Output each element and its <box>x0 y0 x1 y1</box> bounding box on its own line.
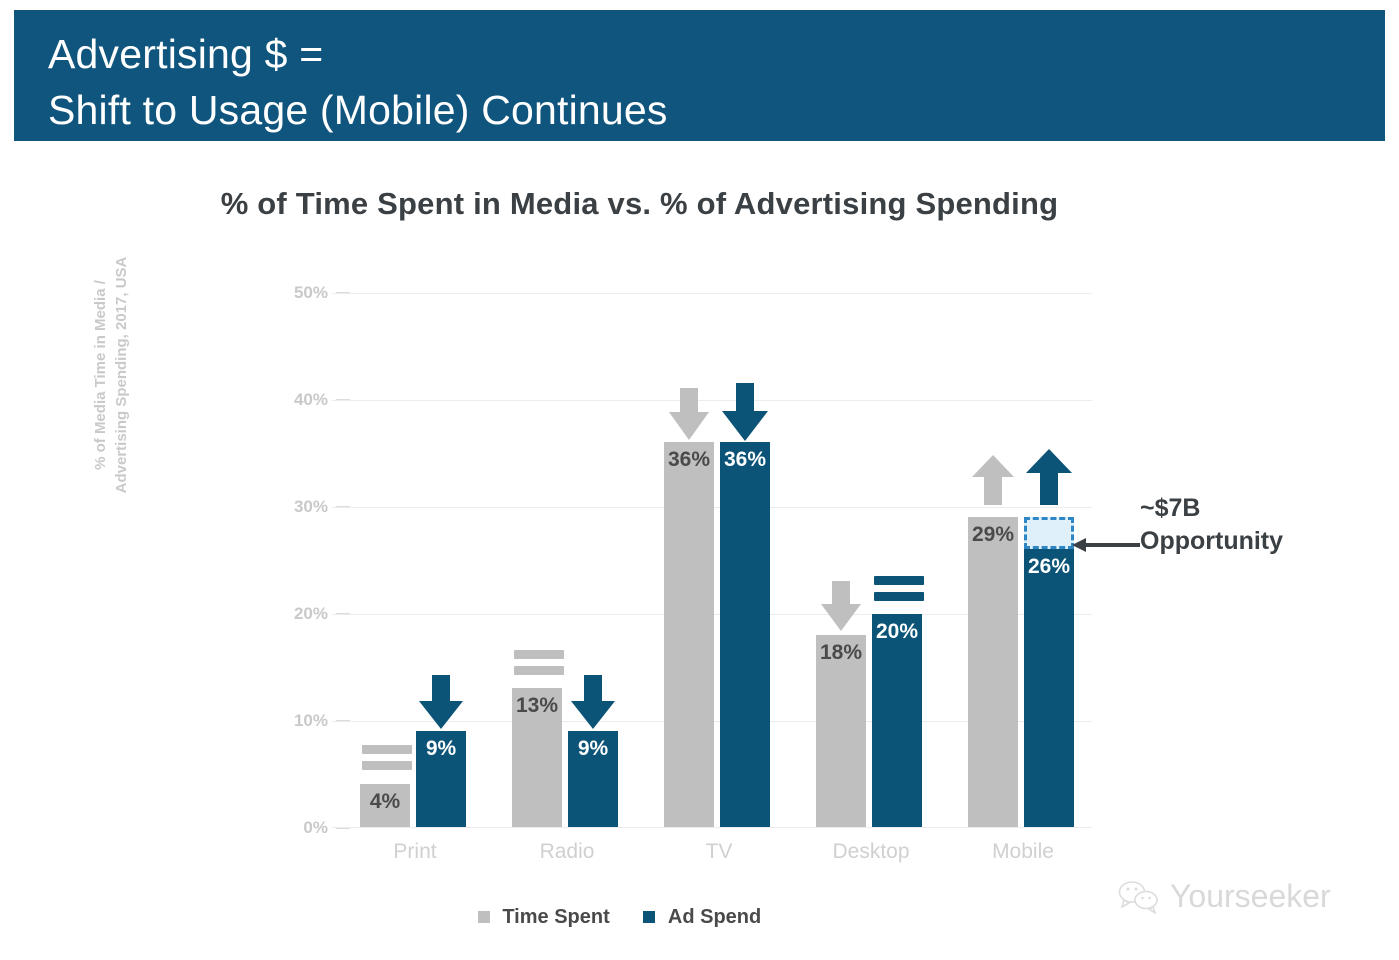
x-tick-label-mobile: Mobile <box>938 840 1108 864</box>
bar-radio-time-spent[interactable]: 13% <box>512 688 562 827</box>
bar-value-tv-ad-spend: 36% <box>720 448 770 472</box>
opportunity-callout: ~$7B Opportunity <box>1140 492 1370 558</box>
equal-icon-print-time-spent <box>362 745 412 770</box>
slide-canvas: Advertising $ = Shift to Usage (Mobile) … <box>0 0 1399 960</box>
up-arrow-icon-mobile-ad-spend <box>1024 449 1074 507</box>
down-arrow-icon-print-ad-spend <box>416 675 466 731</box>
y-tick-label-0: 0% <box>268 818 328 838</box>
y-tick-label-50: 50% <box>268 283 328 303</box>
callout-arrow-icon <box>1072 537 1140 553</box>
page-title: Advertising $ = Shift to Usage (Mobile) … <box>48 26 668 138</box>
bar-print-ad-spend[interactable]: 9% <box>416 731 466 827</box>
plot-area: 4% 9% 13% 9% 36% 36% <box>332 293 1092 827</box>
legend-item-time-spent[interactable]: Time Spent <box>478 906 610 929</box>
down-arrow-icon-tv-ad-spend <box>720 383 770 443</box>
bar-desktop-time-spent[interactable]: 18% <box>816 635 866 827</box>
legend-swatch-time-spent <box>478 911 490 923</box>
bar-value-print-ad-spend: 9% <box>416 737 466 761</box>
gridline-50 <box>332 293 1092 294</box>
up-arrow-icon-mobile-time-spent <box>970 455 1020 507</box>
gridline-0 <box>332 827 1092 828</box>
legend-item-ad-spend[interactable]: Ad Spend <box>643 906 761 929</box>
legend-swatch-ad-spend <box>643 911 655 923</box>
legend-label-time-spent: Time Spent <box>502 906 609 928</box>
bar-tv-ad-spend[interactable]: 36% <box>720 442 770 827</box>
bar-value-print-time-spent: 4% <box>360 790 410 814</box>
opportunity-callout-amount: ~$7B <box>1140 492 1370 525</box>
opportunity-callout-label: Opportunity <box>1140 525 1370 558</box>
bar-desktop-ad-spend[interactable]: 20% <box>872 614 922 827</box>
bar-value-mobile-time-spent: 29% <box>968 523 1018 547</box>
bar-value-desktop-time-spent: 18% <box>816 641 866 665</box>
x-tick-label-radio: Radio <box>482 840 652 864</box>
y-tick-label-10: 10% <box>268 711 328 731</box>
equal-icon-radio-time-spent <box>514 650 564 675</box>
bar-mobile-ad-spend[interactable]: 26% <box>1024 549 1074 827</box>
chart-title-text: % of Time Spent in Media vs. % of Advert… <box>221 186 1059 222</box>
x-tick-label-tv: TV <box>634 840 804 864</box>
down-arrow-icon-radio-ad-spend <box>568 675 618 731</box>
watermark: Yourseeker <box>1118 878 1331 915</box>
opportunity-box[interactable] <box>1024 517 1074 549</box>
bar-tv-time-spent[interactable]: 36% <box>664 442 714 827</box>
y-tick-label-40: 40% <box>268 390 328 410</box>
bar-print-time-spent[interactable]: 4% <box>360 784 410 827</box>
chart-title: % of Time Spent in Media vs. % of Advert… <box>0 186 1399 222</box>
bar-value-radio-time-spent: 13% <box>512 694 562 718</box>
bar-value-tv-time-spent: 36% <box>664 448 714 472</box>
y-tick-label-30: 30% <box>268 497 328 517</box>
bar-value-radio-ad-spend: 9% <box>568 737 618 761</box>
bar-value-mobile-ad-spend: 26% <box>1024 555 1074 579</box>
x-tick-label-desktop: Desktop <box>786 840 956 864</box>
down-arrow-icon-tv-time-spent <box>666 388 716 442</box>
y-axis-title: % of Media Time in Media / Advertising S… <box>90 200 150 550</box>
wechat-icon <box>1118 880 1160 914</box>
header-banner: Advertising $ = Shift to Usage (Mobile) … <box>14 10 1385 141</box>
legend-label-ad-spend: Ad Spend <box>668 906 761 928</box>
y-tick-label-20: 20% <box>268 604 328 624</box>
x-tick-label-print: Print <box>330 840 500 864</box>
bar-mobile-time-spent[interactable]: 29% <box>968 517 1018 827</box>
equal-icon-desktop-ad-spend <box>874 576 924 601</box>
bar-value-desktop-ad-spend: 20% <box>872 620 922 644</box>
bar-radio-ad-spend[interactable]: 9% <box>568 731 618 827</box>
down-arrow-icon-desktop-time-spent <box>818 581 868 633</box>
watermark-text: Yourseeker <box>1170 878 1331 915</box>
